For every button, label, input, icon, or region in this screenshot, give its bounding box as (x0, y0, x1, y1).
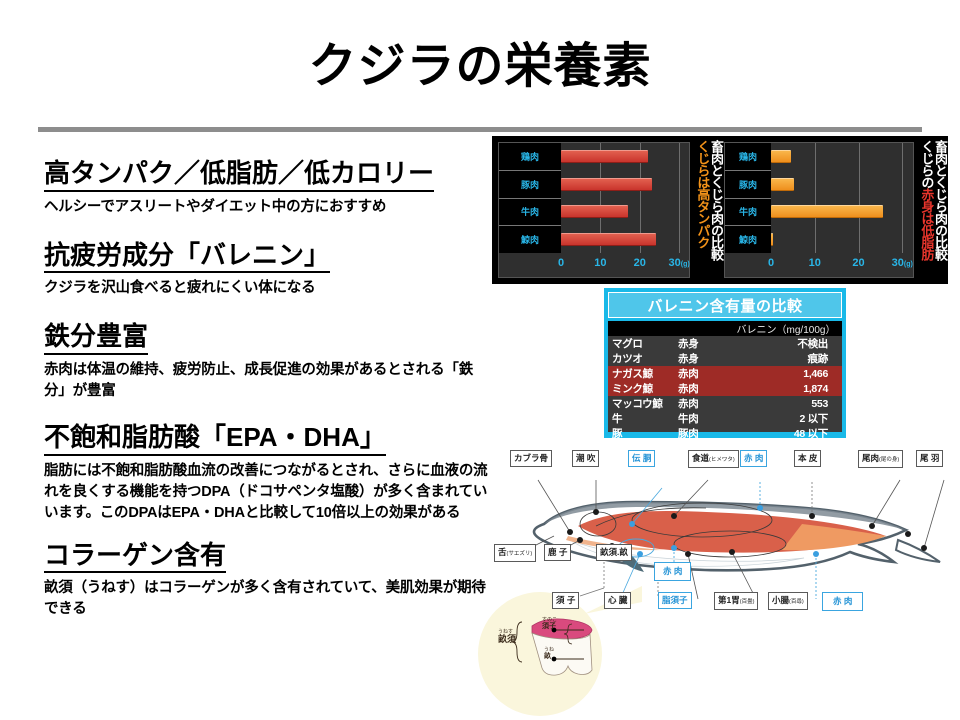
balenine-table-title: バレニン含有量の比較 (608, 292, 842, 318)
cell-cut: 赤肉 (678, 381, 734, 396)
whale-label-akaniku-top: 赤 肉 (740, 450, 767, 467)
header-cell-value: バレニン（mg/100g） (734, 321, 842, 336)
fat-x-axis: 0 10 20 30(g) (771, 255, 911, 275)
protein-x-axis: 0 10 20 30(g) (561, 255, 687, 275)
cell-value: 不検出 (734, 336, 842, 351)
section-heading: 高タンパク／低脂肪／低カロリー (44, 158, 434, 192)
whale-label-unesu-une: 畝須.畝 (596, 544, 632, 561)
table-row: カツオ 赤身 痕跡 (608, 351, 842, 366)
category-label: 鶏肉 (499, 143, 561, 171)
section-heading: 抗疲労成分「バレニン」 (44, 240, 330, 274)
section-heading: 不飽和脂肪酸「EPA・DHA」 (44, 422, 386, 456)
nutrient-section-iron: 鉄分豊富 赤肉は体温の維持、疲労防止、成長促進の効果があるとされる「鉄分」が豊富 (44, 321, 494, 402)
whale-label-kanoko: 鹿 子 (544, 544, 571, 561)
x-tick: 10 (809, 257, 821, 269)
chart-title-vertical: 畜肉とくじら肉の比較 (708, 140, 722, 280)
cell-species: 牛 (608, 411, 678, 426)
x-tick: 30(g) (892, 257, 913, 269)
section-heading: コラーゲン含有 (44, 540, 226, 574)
cell-cut: 赤肉 (678, 396, 734, 411)
inset-label-sunoko: すのこ須子 (542, 618, 557, 631)
category-label: 牛肉 (725, 199, 771, 227)
protein-category-axis: 鶏肉 豚肉 牛肉 鯨肉 (499, 143, 561, 253)
fat-bars (771, 143, 911, 253)
table-row: ナガス鯨 赤肉 1,466 (608, 366, 842, 381)
whale-label-dai1i: 第1胃(百畳) (714, 592, 758, 610)
cell-species: カツオ (608, 351, 678, 366)
whale-anatomy-diagram: カブラ骨 潮 吹 伝 胴 食道(ヒメワタ) 赤 肉 本 皮 尾肉(尾の身) 尾 … (492, 444, 960, 716)
category-label: 牛肉 (499, 199, 561, 227)
cell-value: 2 以下 (734, 411, 842, 426)
cell-value: 48 以下 (734, 426, 842, 441)
category-label: 鶏肉 (725, 143, 771, 171)
cell-species: マッコウ鯨 (608, 396, 678, 411)
cell-value: 1,874 (734, 383, 842, 395)
section-body: 畝須（うねす）はコラーゲンが多く含有されていて、美肌効果が期待できる (44, 578, 494, 620)
nutrient-section-fattyacid: 不飽和脂肪酸「EPA・DHA」 脂肪には不飽和脂肪酸血流の改善につながるとされ、… (44, 422, 494, 524)
category-label: 豚肉 (725, 171, 771, 199)
bar-protein-2 (561, 205, 628, 218)
section-heading: 鉄分豊富 (44, 321, 148, 355)
whale-label-kaburabone: カブラ骨 (510, 450, 552, 467)
x-tick: 0 (768, 257, 774, 269)
slide-root: クジラの栄養素 高タンパク／低脂肪／低カロリー ヘルシーでアスリートやダイエット… (0, 0, 960, 720)
section-body: クジラを沢山食べると疲れにくい体になる (44, 278, 494, 299)
table-row: ミンク鯨 赤肉 1,874 (608, 381, 842, 396)
fat-chart-caption: 畜肉とくじら肉の比較 くじらの赤身は低脂肪 (916, 140, 946, 280)
nutrient-section-collagen: コラーゲン含有 畝須（うねす）はコラーゲンが多く含有されていて、美肌効果が期待で… (44, 540, 494, 621)
whale-label-obane: 尾 羽 (916, 450, 943, 467)
fat-chart: 鶏肉 豚肉 牛肉 鯨肉 (724, 136, 948, 284)
x-tick: 20 (852, 257, 864, 269)
category-label: 豚肉 (499, 171, 561, 199)
whale-label-honkawa: 本 皮 (794, 450, 821, 467)
section-body: 赤肉は体温の維持、疲労防止、成長促進の効果があるとされる「鉄分」が豊富 (44, 360, 494, 402)
fat-category-axis: 鶏肉 豚肉 牛肉 鯨肉 (725, 143, 771, 253)
table-row: マッコウ鯨 赤肉 553 (608, 396, 842, 411)
cell-species: マグロ (608, 336, 678, 351)
chart-title-vertical: 畜肉とくじら肉の比較 (932, 140, 946, 280)
protein-chart-plotarea: タンパク質（g） 鶏肉 豚肉 牛肉 鯨肉 (498, 142, 690, 278)
whale-label-akaniku-mid: 赤 肉 (654, 562, 691, 581)
whale-label-shinzou: 心 臓 (604, 592, 631, 609)
bar-protein-3 (561, 233, 656, 246)
whale-label-oniku: 尾肉(尾の身) (858, 450, 903, 468)
whale-label-aburasunoko: 脂須子 (658, 592, 692, 609)
cell-cut: 牛肉 (678, 411, 734, 426)
cell-species: 豚 (608, 426, 678, 441)
section-body: 脂肪には不飽和脂肪酸血流の改善につながるとされ、さらに血液の流れを良くする機能を… (44, 461, 494, 524)
whale-label-shokudou: 食道(ヒメワタ) (688, 450, 739, 468)
x-tick: 10 (594, 257, 606, 269)
whale-label-sunoko: 須 子 (552, 592, 579, 609)
whale-illustration (492, 444, 960, 716)
cell-value: 1,466 (734, 368, 842, 380)
section-body: ヘルシーでアスリートやダイエット中の方におすすめ (44, 197, 494, 218)
table-row: 豚 豚肉 48 以下 (608, 426, 842, 441)
inset-label-une: うね畝 (544, 648, 554, 661)
bar-protein-0 (561, 150, 648, 163)
x-tick: 30(g) (669, 257, 690, 269)
cell-species: ミンク鯨 (608, 381, 678, 396)
chart-subtitle-vertical: くじらは高タンパク (695, 140, 709, 280)
nutrient-section-protein: 高タンパク／低脂肪／低カロリー ヘルシーでアスリートやダイエット中の方におすすめ (44, 158, 494, 218)
protein-chart-caption: 畜肉とくじら肉の比較 くじらは高タンパク (692, 140, 722, 280)
nutrient-list: 高タンパク／低脂肪／低カロリー ヘルシーでアスリートやダイエット中の方におすすめ… (44, 158, 494, 637)
page-title: クジラの栄養素 (0, 42, 960, 90)
x-tick: 0 (558, 257, 564, 269)
bar-protein-1 (561, 178, 652, 191)
category-label: 鯨肉 (499, 226, 561, 253)
whale-label-shouchou: 小腸(百尋) (768, 592, 808, 610)
cell-cut: 赤身 (678, 336, 734, 351)
bar-fat-0 (771, 150, 791, 163)
nutrient-section-balenine: 抗疲労成分「バレニン」 クジラを沢山食べると疲れにくい体になる (44, 240, 494, 300)
whale-label-dendou: 伝 胴 (628, 450, 655, 467)
balenine-table: バレニン含有量の比較 バレニン（mg/100g） マグロ 赤身 不検出 カツオ … (604, 288, 846, 438)
whale-label-akaniku-bottom: 赤 肉 (822, 592, 863, 611)
cell-cut: 赤身 (678, 351, 734, 366)
whale-label-shita: 舌(サエズリ) (494, 544, 536, 562)
category-label: 鯨肉 (725, 226, 771, 253)
chart-subtitle-vertical: くじらの赤身は低脂肪 (919, 140, 933, 280)
title-divider (38, 127, 922, 132)
cell-value: 553 (734, 398, 842, 410)
whale-label-shiofuki: 潮 吹 (572, 450, 599, 467)
bar-fat-1 (771, 178, 794, 191)
table-row: 牛 牛肉 2 以下 (608, 411, 842, 426)
bar-fat-2 (771, 205, 883, 218)
cell-value: 痕跡 (734, 351, 842, 366)
inset-label-unesu: うねす畝須 (498, 630, 516, 645)
protein-bars (561, 143, 687, 253)
table-row: マグロ 赤身 不検出 (608, 336, 842, 351)
bar-fat-3 (771, 233, 773, 246)
balenine-table-header: バレニン（mg/100g） (608, 321, 842, 336)
balenine-table-grid: バレニン（mg/100g） マグロ 赤身 不検出 カツオ 赤身 痕跡 ナガス鯨 … (608, 321, 842, 432)
cell-cut: 豚肉 (678, 426, 734, 441)
comparison-charts: タンパク質（g） 鶏肉 豚肉 牛肉 鯨肉 (492, 136, 948, 284)
x-tick: 20 (634, 257, 646, 269)
cell-species: ナガス鯨 (608, 366, 678, 381)
cell-cut: 赤肉 (678, 366, 734, 381)
fat-chart-plotarea: 鶏肉 豚肉 牛肉 鯨肉 (724, 142, 914, 278)
protein-chart: タンパク質（g） 鶏肉 豚肉 牛肉 鯨肉 (492, 136, 724, 284)
